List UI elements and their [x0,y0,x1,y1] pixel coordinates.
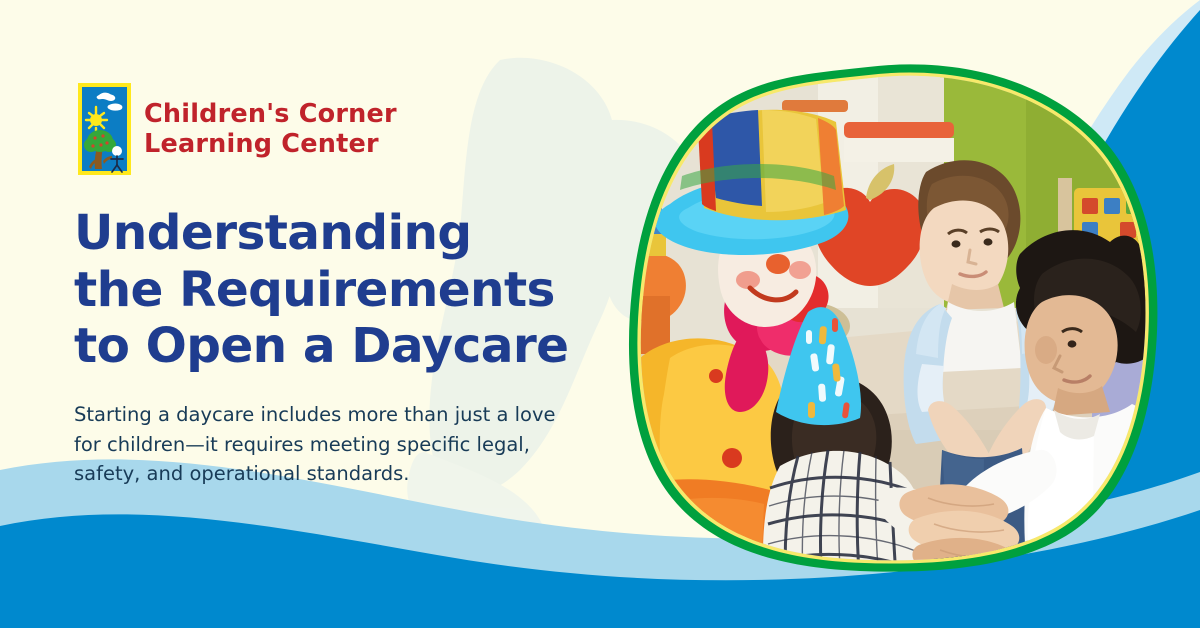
brand-logo-text: Children's Corner Learning Center [144,99,397,159]
brand-logo-line2: Learning Center [144,129,397,159]
page-title-line2: the Requirements [74,262,634,319]
page-title-line3: to Open a Daycare [74,318,634,375]
page-subtitle: Starting a daycare includes more than ju… [74,400,574,489]
daycare-hero-banner: Children's Corner Learning Center Unders… [0,0,1200,628]
childrens-corner-logo-mark [78,83,131,175]
hero-photo [622,58,1162,578]
sun-disc [90,114,102,126]
brand-logo-line1: Children's Corner [144,99,397,129]
page-subtitle-line1: Starting a daycare includes more than ju… [74,400,574,430]
brand-logo[interactable]: Children's Corner Learning Center [78,83,397,175]
page-subtitle-line3: safety, and operational standards. [74,459,574,489]
page-title-line1: Understanding [74,205,634,262]
page-title: Understanding the Requirements to Open a… [74,205,634,375]
page-subtitle-line2: for children—it requires meeting specifi… [74,430,574,460]
